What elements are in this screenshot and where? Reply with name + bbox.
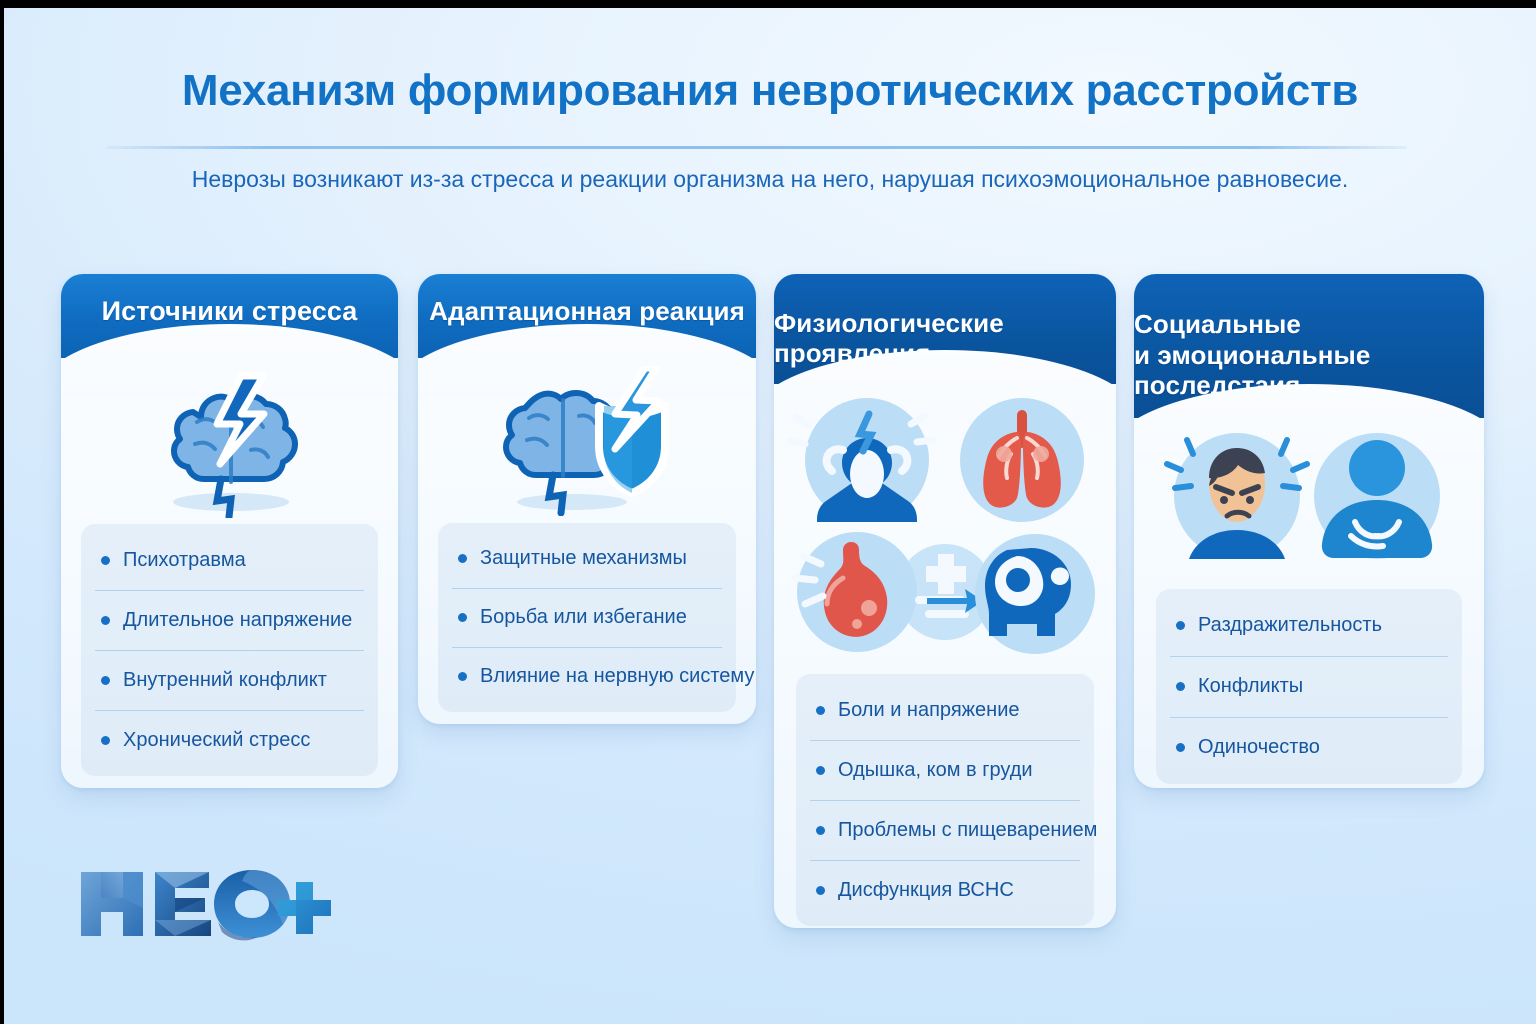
list-item-label: Влияние на нервную систему <box>480 665 754 688</box>
bullet-icon <box>816 826 825 835</box>
bullet-icon <box>816 706 825 715</box>
card-title-line: Источники стресса <box>102 296 358 328</box>
card-title-line: Социальные <box>1134 309 1301 339</box>
list-item[interactable]: Защитные механизмы <box>438 529 736 588</box>
brain-shield-lightning-icon <box>418 366 756 516</box>
list-item[interactable]: Борьба или избегание <box>438 588 736 647</box>
infographic-poster: Механизм формирования невротических расс… <box>4 8 1536 1024</box>
card-header-social-emotional-consequences: Социальные и эмоциональные последстаия <box>1134 274 1484 418</box>
bullet-icon <box>1176 621 1185 630</box>
card-header-sources-of-stress: Источники стресса <box>61 274 398 358</box>
card-sources-of-stress[interactable]: Источники стресса Психотравма Длительное… <box>61 274 398 788</box>
list-panel-sources-of-stress: Психотравма Длительное напряжение Внутре… <box>81 524 378 776</box>
list-item-label: Борьба или избегание <box>480 606 687 629</box>
list-item[interactable]: Одиночество <box>1156 717 1462 778</box>
list-item-label: Одышка, ком в груди <box>838 759 1033 782</box>
bullet-icon <box>101 616 110 625</box>
card-title-line: проявления <box>774 338 930 368</box>
card-social-emotional-consequences[interactable]: Социальные и эмоциональные последстаия <box>1134 274 1484 788</box>
list-item[interactable]: Раздражительность <box>1156 595 1462 656</box>
title-divider <box>107 146 1407 149</box>
bullet-icon <box>101 556 110 565</box>
card-title-line: последстаия <box>1134 370 1300 400</box>
bullet-icon <box>458 672 467 681</box>
card-adaptive-reaction[interactable]: Адаптационная реакция Защитные механизмы… <box>418 274 756 724</box>
card-header-adaptive-reaction: Адаптационная реакция <box>418 274 756 358</box>
bullet-icon <box>816 886 825 895</box>
list-item-label: Конфликты <box>1198 675 1303 698</box>
list-item-label: Хронический стресс <box>123 729 310 752</box>
list-panel-social-emotional-consequences: Раздражительность Конфликты Одиночество <box>1156 589 1462 784</box>
bullet-icon <box>458 554 467 563</box>
bullet-icon <box>101 736 110 745</box>
list-item[interactable]: Внутренний конфликт <box>81 650 378 710</box>
list-item-label: Одиночество <box>1198 736 1320 759</box>
bullet-icon <box>101 676 110 685</box>
list-panel-adaptive-reaction: Защитные механизмы Борьба или избегание … <box>438 523 736 712</box>
list-item-label: Проблемы с пищеварением <box>838 819 1097 842</box>
angry-face-lonely-person-icons <box>1134 426 1484 576</box>
list-item-label: Внутренний конфликт <box>123 669 327 692</box>
headache-lungs-stomach-head-icons <box>774 392 1116 672</box>
list-item-label: Длительное напряжение <box>123 609 352 632</box>
list-item[interactable]: Конфликты <box>1156 656 1462 717</box>
bullet-icon <box>1176 682 1185 691</box>
list-item[interactable]: Психотравма <box>81 530 378 590</box>
brain-lightning-icon <box>61 368 398 518</box>
bullet-icon <box>458 613 467 622</box>
list-item-label: Защитные механизмы <box>480 547 687 570</box>
card-title-line: и эмоциональные <box>1134 340 1370 370</box>
list-item[interactable]: Боли и напряжение <box>796 680 1094 740</box>
neo-plus-logo[interactable] <box>77 866 337 942</box>
card-header-physiological-manifestations: Физиологические проявления <box>774 274 1116 384</box>
list-item-label: Дисфункция ВСНС <box>838 879 1014 902</box>
page-title: Механизм формирования невротических расс… <box>4 66 1536 116</box>
list-item-label: Психотравма <box>123 549 246 572</box>
list-item-label: Боли и напряжение <box>838 699 1020 722</box>
card-title-line: Физиологические <box>774 308 1004 338</box>
bullet-icon <box>816 766 825 775</box>
list-item-label: Раздражительность <box>1198 614 1382 637</box>
card-physiological-manifestations[interactable]: Физиологические проявления <box>774 274 1116 928</box>
list-panel-physiological-manifestations: Боли и напряжение Одышка, ком в груди Пр… <box>796 674 1094 926</box>
list-item[interactable]: Длительное напряжение <box>81 590 378 650</box>
list-item[interactable]: Одышка, ком в груди <box>796 740 1094 800</box>
list-item[interactable]: Хронический стресс <box>81 710 378 770</box>
page-subtitle: Неврозы возникают из-за стресса и реакци… <box>4 166 1536 193</box>
card-title-line: Адаптационная реакция <box>429 296 745 326</box>
list-item[interactable]: Влияние на нервную систему <box>438 647 736 706</box>
list-item[interactable]: Дисфункция ВСНС <box>796 860 1094 920</box>
bullet-icon <box>1176 743 1185 752</box>
list-item[interactable]: Проблемы с пищеварением <box>796 800 1094 860</box>
